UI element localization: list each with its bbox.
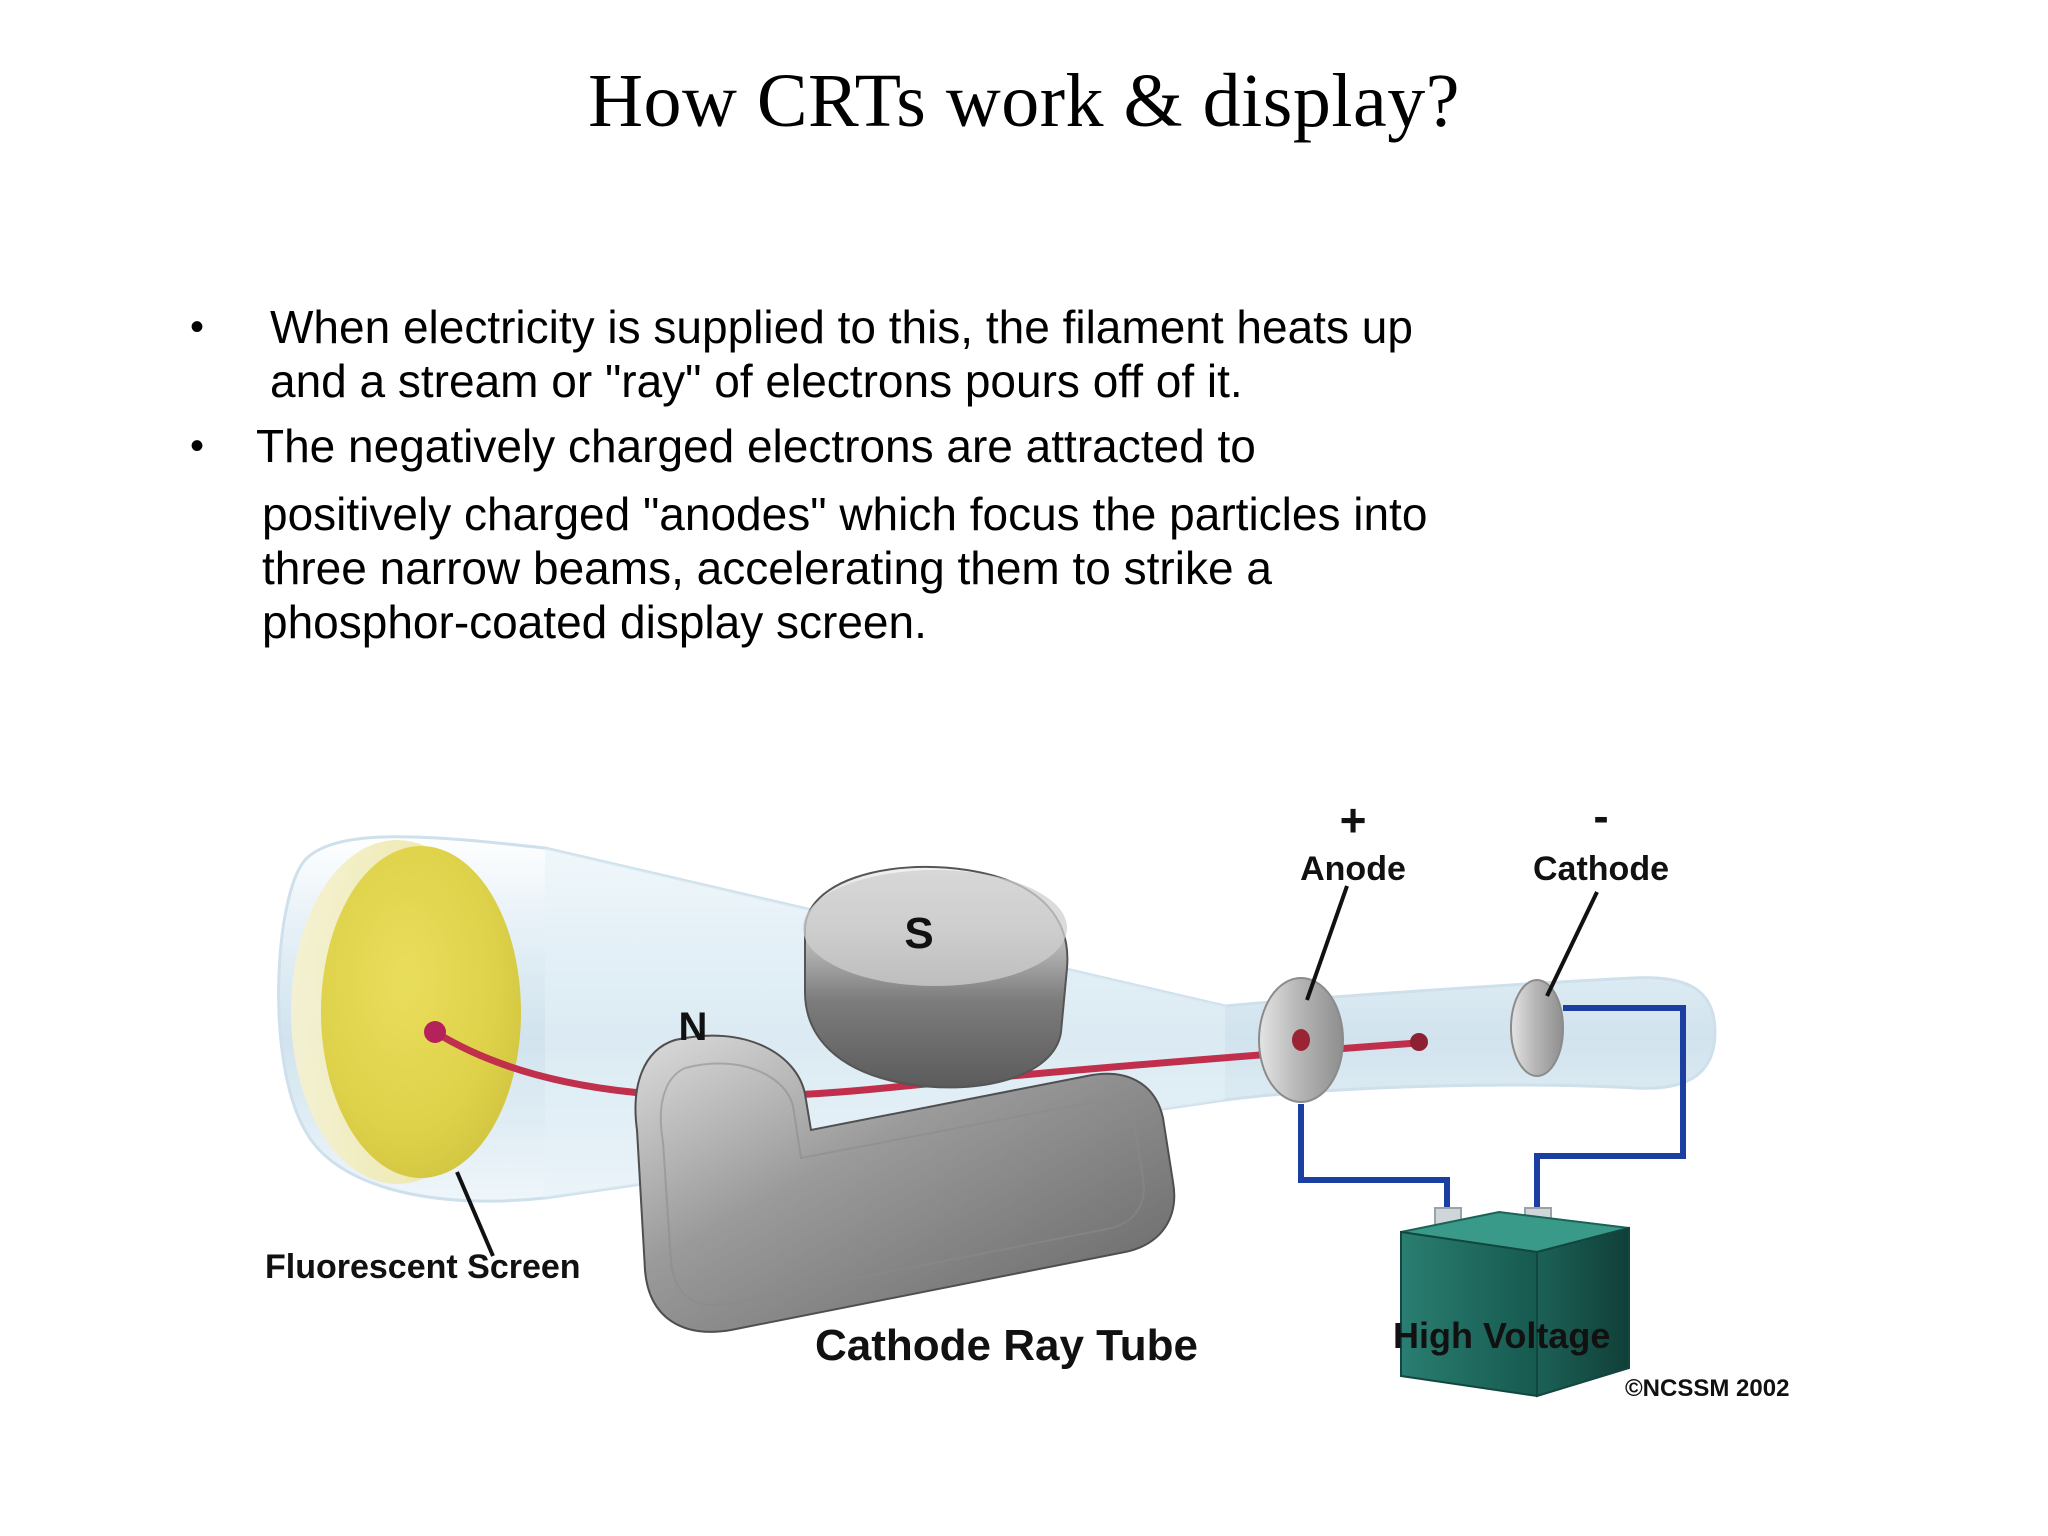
electrode-labels: + Anode - Cathode xyxy=(1300,800,1669,888)
bullet-list: • When electricity is supplied to this, … xyxy=(248,300,1808,649)
cathode-ray-tube-label: Cathode Ray Tube xyxy=(815,1321,1198,1370)
page-title: How CRTs work & display? xyxy=(0,62,2048,142)
bullet-2-line-4: phosphor-coated display screen. xyxy=(262,597,1808,649)
anode-electrode xyxy=(1259,978,1343,1102)
slide-canvas: How CRTs work & display? • When electric… xyxy=(0,0,2048,1536)
copyright-label: ©NCSSM 2002 xyxy=(1625,1375,1789,1402)
bullet-1-line-1: When electricity is supplied to this, th… xyxy=(270,300,1808,354)
cathode-ray-tube-diagram: S N + Anode - Cath xyxy=(245,800,1905,1430)
bullet-1-line-2: and a stream or "ray" of electrons pours… xyxy=(270,354,1808,408)
bullet-marker: • xyxy=(190,421,204,471)
list-item: • The negatively charged electrons are a… xyxy=(248,419,1808,649)
bullet-marker: • xyxy=(190,302,204,352)
cathode-electrode xyxy=(1511,980,1563,1076)
high-voltage-label: High Voltage xyxy=(1393,1315,1610,1356)
magnet-north-pole-label: N xyxy=(679,1005,708,1049)
cathode-minus-sign: - xyxy=(1593,800,1608,842)
cathode-label: Cathode xyxy=(1533,850,1669,888)
high-voltage-battery xyxy=(1401,1208,1629,1396)
bullet-2-line-2: positively charged "anodes" which focus … xyxy=(262,489,1808,541)
fluorescent-screen-label: Fluorescent Screen xyxy=(265,1248,581,1286)
magnet-south-pole-label: S xyxy=(904,909,933,958)
bullet-2-line-3: three narrow beams, accelerating them to… xyxy=(262,543,1808,595)
bullet-2-line-1: The negatively charged electrons are att… xyxy=(256,419,1808,473)
list-item: • When electricity is supplied to this, … xyxy=(248,300,1808,409)
fluorescent-screen xyxy=(291,840,521,1184)
anode-plus-sign: + xyxy=(1340,800,1367,846)
anode-label: Anode xyxy=(1300,850,1406,888)
